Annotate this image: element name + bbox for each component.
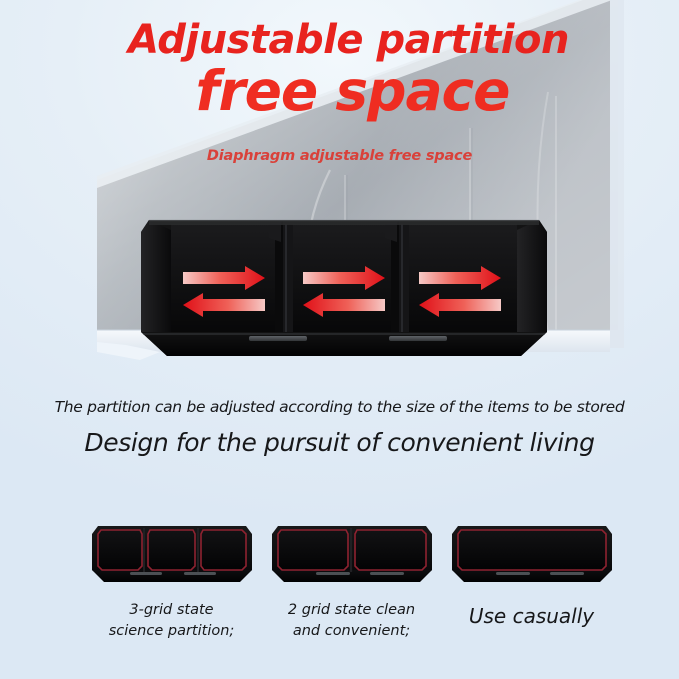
base-tab-left — [249, 336, 307, 341]
main-product-box — [141, 208, 547, 368]
variant-cell-2 — [148, 530, 195, 570]
variant-3-grid-art — [84, 520, 259, 586]
variant-3-grid: 3-grid state science partition; — [84, 520, 259, 642]
product-marketing-poster: Adjustable partition free space Diaphrag… — [0, 0, 679, 679]
variant-3-grid-caption: 3-grid state science partition; — [84, 600, 259, 642]
mid-copy-line-1: The partition can be adjusted according … — [0, 398, 679, 416]
variant-2-grid-caption: 2 grid state clean and convenient; — [264, 600, 439, 642]
variant-open-art — [444, 520, 619, 586]
variant-2-grid: 2 grid state clean and convenient; — [264, 520, 439, 642]
variant-cell-1 — [98, 530, 142, 570]
variant-2-grid-art — [264, 520, 439, 586]
variant-cell-1 — [458, 530, 606, 570]
variant-row: 3-grid state science partition; — [0, 520, 679, 670]
caption-line-1: 2 grid state clean — [264, 600, 439, 621]
caption-line-1: Use casually — [444, 606, 619, 627]
variant-cell-1 — [278, 530, 348, 570]
base-tab-right — [389, 336, 447, 341]
variant-cell-3 — [201, 530, 246, 570]
caption-line-2: and convenient; — [264, 621, 439, 642]
caption-line-1: 3-grid state — [84, 600, 259, 621]
caption-line-2: science partition; — [84, 621, 259, 642]
variant-open: Use casually — [444, 520, 619, 627]
variant-cell-2 — [355, 530, 426, 570]
variant-open-caption: Use casually — [444, 606, 619, 627]
mid-copy: The partition can be adjusted according … — [0, 398, 679, 457]
mid-copy-line-2: Design for the pursuit of convenient liv… — [0, 428, 679, 457]
